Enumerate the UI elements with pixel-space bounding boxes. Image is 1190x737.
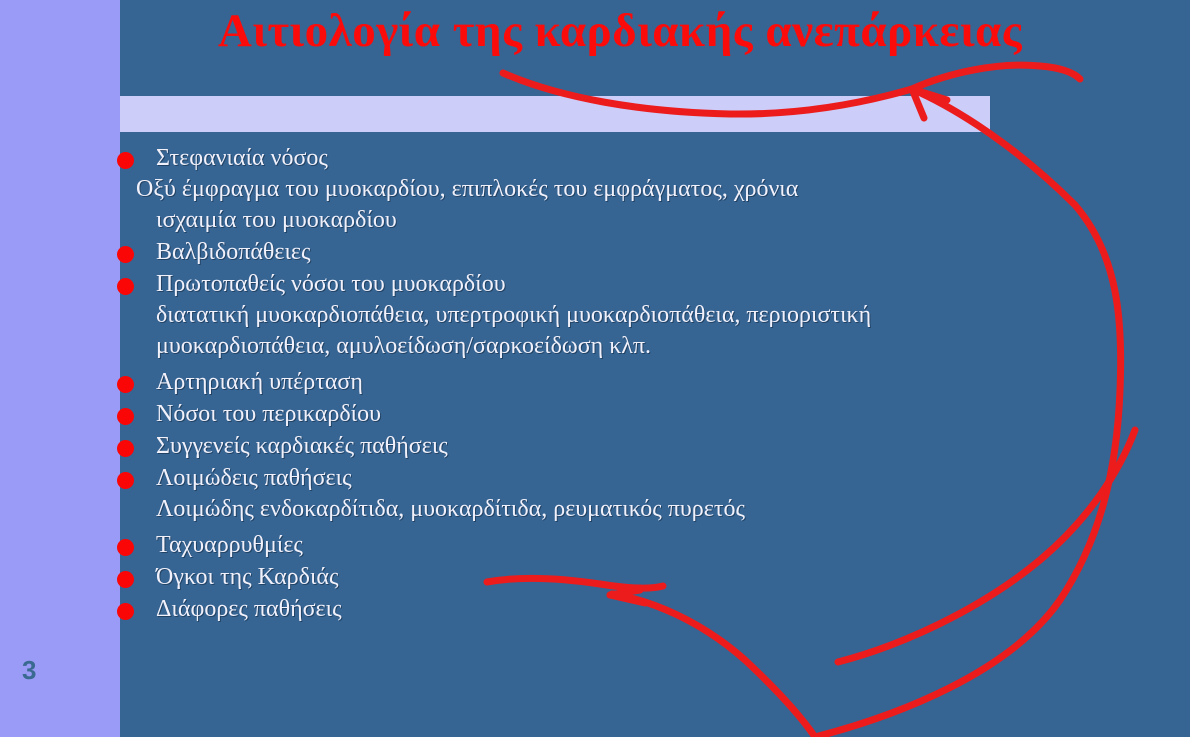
bullet-detail: διατατική μυοκαρδιοπάθεια, υπερτροφική μ… (110, 300, 1180, 362)
list-item: Βαλβιδοπάθειες (110, 237, 1180, 268)
bullet-label: Όγκοι της Καρδιάς (156, 562, 1180, 593)
list-item: Νόσοι του περικαρδίου (110, 399, 1180, 430)
bullet-row: Όγκοι της Καρδιάς (110, 562, 1180, 593)
bullet-row: Διάφορες παθήσεις (110, 594, 1180, 625)
title-banner-decoration (20, 96, 990, 132)
bullet-dot-icon (117, 152, 134, 169)
bullet-label: Στεφανιαία νόσος (156, 143, 1180, 174)
list-item: Λοιμώδεις παθήσεις Λοιμώδης ενδοκαρδίτιδ… (110, 463, 1180, 525)
bullet-row: Αρτηριακή υπέρταση (110, 367, 1180, 398)
list-item: Διάφορες παθήσεις (110, 594, 1180, 625)
bullet-detail-line: Λοιμώδης ενδοκαρδίτιδα, μυοκαρδίτιδα, ρε… (156, 496, 745, 522)
bullet-label: Πρωτοπαθείς νόσοι του μυοκαρδίου (156, 269, 1180, 300)
bullet-dot-icon (117, 440, 134, 457)
list-item: Στεφανιαία νόσος Οξύ έμφραγμα του μυοκαρ… (110, 143, 1180, 236)
bullet-dot-icon (117, 246, 134, 263)
bullet-dot-icon (117, 571, 134, 588)
bullet-label: Νόσοι του περικαρδίου (156, 399, 1180, 430)
presentation-slide: 3 Αιτιολογία της καρδιακής ανεπάρκειας Σ… (0, 0, 1190, 737)
bullet-detail-line: ισχαιμία του μυοκαρδίου (136, 205, 1180, 236)
bullet-detail-line: διατατική μυοκαρδιοπάθεια, υπερτροφική μ… (156, 302, 871, 328)
bullet-dot-icon (117, 472, 134, 489)
bullet-row: Πρωτοπαθείς νόσοι του μυοκαρδίου (110, 269, 1180, 300)
bullet-label: Διάφορες παθήσεις (156, 594, 1180, 625)
bullet-row: Λοιμώδεις παθήσεις (110, 463, 1180, 494)
bullet-detail: Λοιμώδης ενδοκαρδίτιδα, μυοκαρδίτιδα, ρε… (110, 494, 1180, 525)
bullet-label: Αρτηριακή υπέρταση (156, 367, 1180, 398)
bullet-label: Συγγενείς καρδιακές παθήσεις (156, 431, 1180, 462)
left-color-band (0, 0, 120, 737)
bullet-list: Στεφανιαία νόσος Οξύ έμφραγμα του μυοκαρ… (110, 143, 1180, 626)
bullet-dot-icon (117, 376, 134, 393)
title-arrow-tail (912, 65, 1080, 89)
list-item: Ταχυαρρυθμίες (110, 530, 1180, 561)
list-item: Όγκοι της Καρδιάς (110, 562, 1180, 593)
page-number: 3 (22, 655, 62, 686)
bullet-detail: Οξύ έμφραγμα του μυοκαρδίου, επιπλοκές τ… (110, 174, 1180, 236)
list-item: Αρτηριακή υπέρταση (110, 367, 1180, 398)
bullet-row: Ταχυαρρυθμίες (110, 530, 1180, 561)
bullet-row: Βαλβιδοπάθειες (110, 237, 1180, 268)
bullet-dot-icon (117, 603, 134, 620)
bullet-label: Βαλβιδοπάθειες (156, 237, 1180, 268)
bullet-dot-icon (117, 278, 134, 295)
bullet-label: Λοιμώδεις παθήσεις (156, 463, 1180, 494)
bullet-dot-icon (117, 408, 134, 425)
bullet-row: Νόσοι του περικαρδίου (110, 399, 1180, 430)
bullet-row: Συγγενείς καρδιακές παθήσεις (110, 431, 1180, 462)
list-item: Πρωτοπαθείς νόσοι του μυοκαρδίου διατατι… (110, 269, 1180, 362)
bullet-row: Στεφανιαία νόσος (110, 143, 1180, 174)
bullet-detail-line: μυοκαρδιοπάθεια, αμυλοείδωση/σαρκοείδωση… (156, 331, 1180, 362)
slide-title: Αιτιολογία της καρδιακής ανεπάρκειας (120, 4, 1120, 58)
bullet-label: Ταχυαρρυθμίες (156, 530, 1180, 561)
list-item: Συγγενείς καρδιακές παθήσεις (110, 431, 1180, 462)
bullet-detail-line: Οξύ έμφραγμα του μυοκαρδίου, επιπλοκές τ… (136, 176, 798, 202)
bullet-dot-icon (117, 539, 134, 556)
